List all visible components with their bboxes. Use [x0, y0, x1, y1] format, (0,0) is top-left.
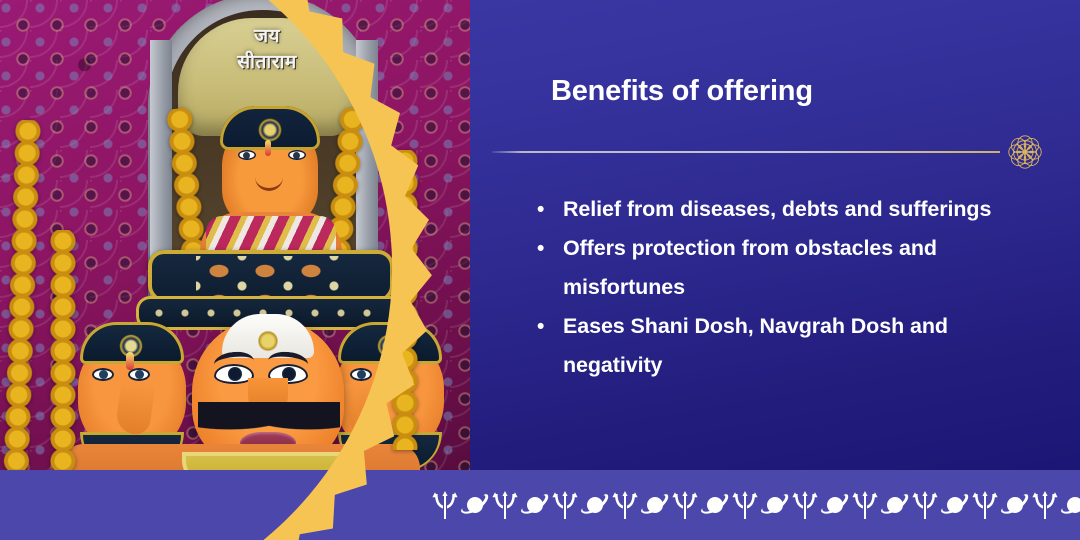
trident-icon	[432, 489, 458, 521]
upper-deity-eye	[288, 150, 306, 160]
bullet-marker-icon: •	[537, 229, 563, 268]
page-title: Benefits of offering	[551, 75, 813, 108]
hanuman-face-left-eye	[128, 368, 150, 381]
marigold-garland	[392, 150, 418, 450]
saturn-icon	[1060, 490, 1080, 520]
list-item: •Relief from diseases, debts and sufferi…	[537, 190, 1007, 229]
upper-deity-tilak	[265, 140, 271, 156]
trident-icon	[612, 489, 638, 521]
slide-canvas: जय सीताराम	[0, 0, 1080, 540]
hanuman-face-right-tilak	[384, 352, 392, 370]
hanuman-face-right-eye	[350, 368, 372, 381]
list-item-label: Eases Shani Dosh, Navgrah Dosh and negat…	[563, 307, 1007, 385]
trident-icon	[552, 489, 578, 521]
hanuman-crown-ornament	[196, 256, 346, 296]
saturn-icon	[880, 490, 910, 520]
bottom-symbol-band	[0, 470, 1080, 540]
upper-deity-eye	[238, 150, 256, 160]
saturn-icon	[760, 490, 790, 520]
trident-icon	[672, 489, 698, 521]
deity-photo: जय सीताराम	[0, 0, 470, 540]
saturn-icon	[580, 490, 610, 520]
trident-icon	[492, 489, 518, 521]
trident-icon	[912, 489, 938, 521]
bullet-marker-icon: •	[537, 190, 563, 229]
hanuman-center-tilak	[258, 330, 278, 352]
saturn-icon	[1000, 490, 1030, 520]
title-divider	[492, 151, 1000, 153]
mandala-rosette-icon	[1001, 128, 1049, 176]
trident-icon	[972, 489, 998, 521]
saturn-icon	[520, 490, 550, 520]
list-item-label: Offers protection from obstacles and mis…	[563, 229, 1007, 307]
trident-icon	[1032, 489, 1058, 521]
saturn-icon	[460, 490, 490, 520]
bullet-marker-icon: •	[537, 307, 563, 346]
list-item-label: Relief from diseases, debts and sufferin…	[563, 190, 1007, 229]
saturn-icon	[940, 490, 970, 520]
hanuman-face-left-eye	[92, 368, 114, 381]
benefits-list: •Relief from diseases, debts and sufferi…	[537, 190, 1007, 385]
trident-icon	[732, 489, 758, 521]
saturn-icon	[640, 490, 670, 520]
hanuman-face-left-tilak	[126, 352, 134, 370]
list-item: •Eases Shani Dosh, Navgrah Dosh and nega…	[537, 307, 1007, 385]
list-item: •Offers protection from obstacles and mi…	[537, 229, 1007, 307]
shrine-inscription: जय सीताराम	[178, 24, 356, 76]
trident-icon	[852, 489, 878, 521]
saturn-icon	[700, 490, 730, 520]
saturn-icon	[820, 490, 850, 520]
trident-icon	[792, 489, 818, 521]
